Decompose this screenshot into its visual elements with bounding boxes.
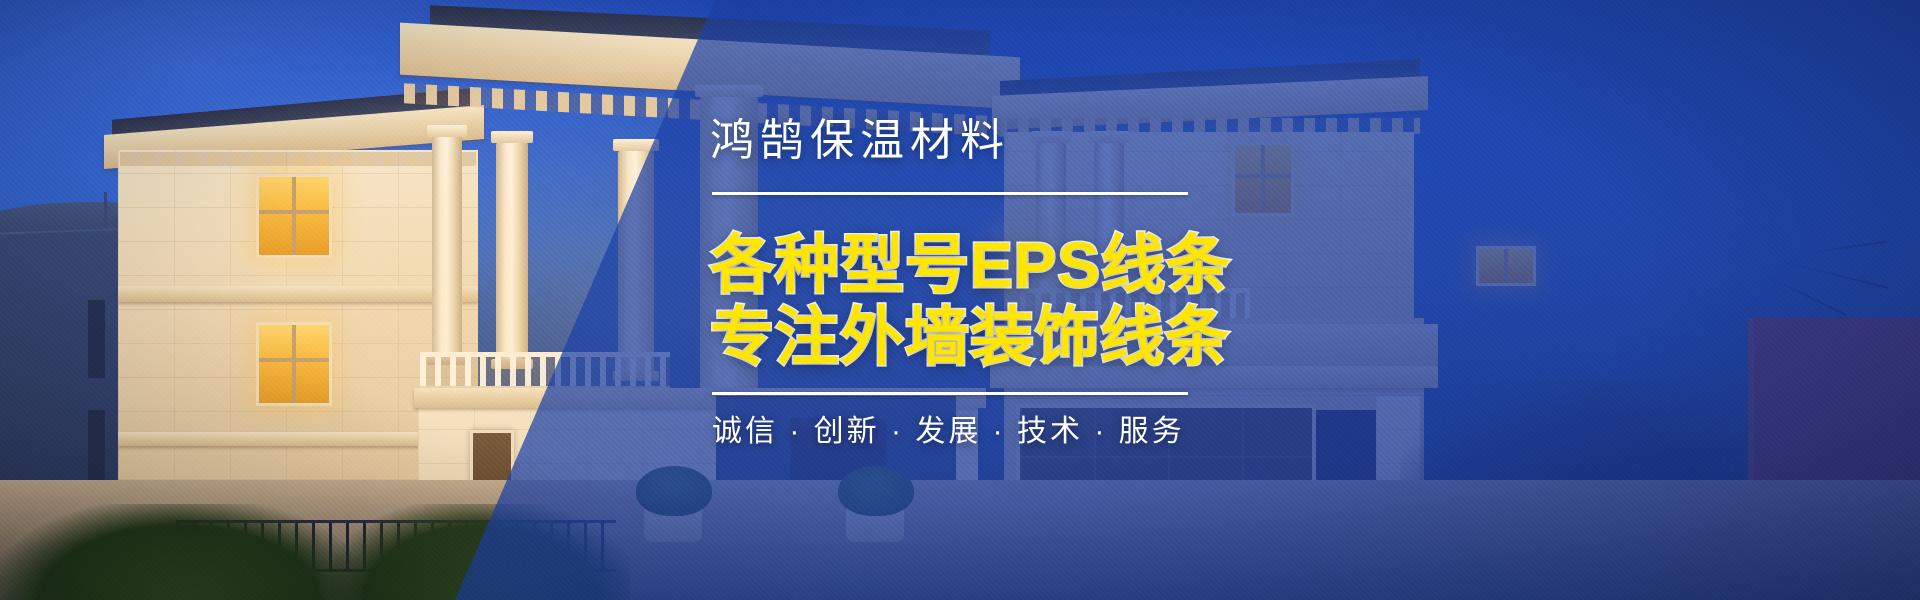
- window-mullion-horizontal: [259, 358, 329, 362]
- shrub: [636, 466, 712, 516]
- portico-column: [618, 150, 654, 372]
- balcony-balustrade: [420, 352, 670, 392]
- window-lit: [256, 322, 332, 406]
- headline-line-2: 专注外墙装饰线条: [710, 286, 1230, 378]
- banner-content: 鸿鹄保温材料 各种型号EPS线条 专注外墙装饰线条 诚信 · 创新 · 发展 ·…: [710, 0, 1410, 600]
- dentil-course-left: [120, 152, 476, 166]
- hero-banner: 鸿鹄保温材料 各种型号EPS线条 专注外墙装饰线条 诚信 · 创新 · 发展 ·…: [0, 0, 1920, 600]
- tagline: 诚信 · 创新 · 发展 · 技术 · 服务: [712, 406, 1185, 450]
- hedge: [330, 504, 630, 600]
- divider-bottom: [712, 392, 1188, 395]
- window-mullion-vertical: [292, 325, 296, 403]
- belt-course-left: [118, 286, 478, 302]
- window-mullion-horizontal: [259, 210, 329, 214]
- window-lit: [256, 174, 332, 258]
- divider-top: [712, 192, 1188, 195]
- window-lit: [1476, 246, 1536, 286]
- hedge: [0, 504, 360, 600]
- portico-column: [432, 136, 462, 356]
- window-mullion-vertical: [292, 177, 296, 255]
- window-mullion-vertical: [1504, 249, 1508, 283]
- brand-name: 鸿鹄保温材料: [710, 104, 1010, 168]
- portico-column: [496, 142, 528, 360]
